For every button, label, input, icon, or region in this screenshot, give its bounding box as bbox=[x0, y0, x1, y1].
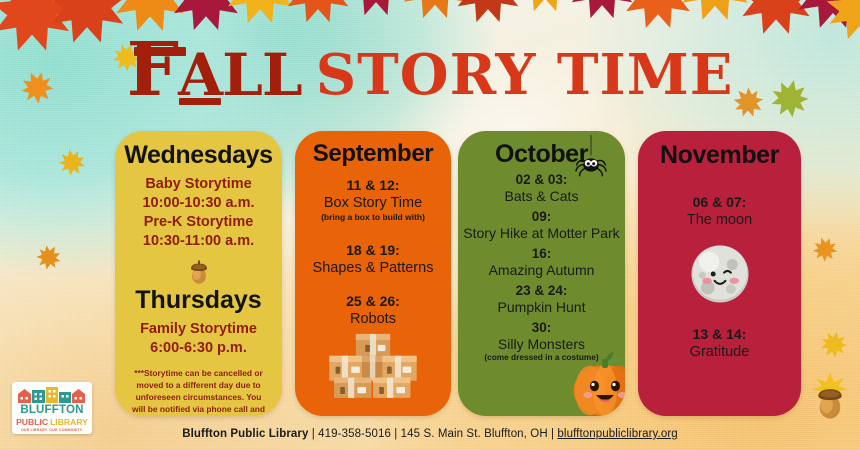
baby-storytime-time: 10:00-10:30 a.m. bbox=[115, 194, 282, 213]
acorn-icon bbox=[115, 256, 282, 286]
footer-sep-1: | bbox=[308, 428, 318, 440]
title-flourish-bar bbox=[134, 47, 186, 56]
card-wednesdays-heading: Wednesdays bbox=[115, 131, 282, 168]
september-date-1: 11 & 12: bbox=[295, 177, 451, 193]
card-november[interactable]: November 06 & 07: The moon bbox=[638, 131, 801, 416]
october-event-1: Bats & Cats bbox=[458, 188, 625, 204]
family-storytime-label: Family Storytime bbox=[115, 320, 282, 339]
storytime-disclaimer: ***Storytime can be cancelled or moved t… bbox=[115, 368, 282, 416]
card-wednesdays[interactable]: Wednesdays Baby Storytime 10:00-10:30 a.… bbox=[115, 131, 282, 416]
list-item: 06 & 07: The moon bbox=[638, 194, 801, 228]
jack-o-lantern-icon bbox=[567, 347, 625, 416]
september-date-2: 18 & 19: bbox=[295, 242, 451, 258]
card-wednesdays-body: Baby Storytime 10:00-10:30 a.m. Pre-K St… bbox=[115, 175, 282, 416]
list-item: 25 & 26: Robots bbox=[295, 293, 451, 327]
wednesdays-schedule: Baby Storytime 10:00-10:30 a.m. Pre-K St… bbox=[115, 175, 282, 252]
list-item: 09: Story Hike at Motter Park bbox=[458, 209, 625, 241]
footer-website-link[interactable]: blufftonpubliclibrary.org bbox=[557, 428, 677, 440]
november-event-2: Gratitude bbox=[638, 344, 801, 360]
list-item: 16: Amazing Autumn bbox=[458, 246, 625, 278]
card-october-body: 02 & 03: Bats & Cats 09: Story Hike at M… bbox=[458, 172, 625, 362]
september-event-2: Shapes & Patterns bbox=[295, 260, 451, 276]
title-story-time: STORY TIME bbox=[316, 47, 734, 103]
family-storytime-time: 6:00-6:30 p.m. bbox=[115, 339, 282, 358]
footer-address: 145 S. Main St. Bluffton, OH bbox=[401, 428, 548, 440]
card-september[interactable]: September 11 & 12: Box Story Time (bring… bbox=[295, 131, 451, 416]
title-flourish-underline bbox=[179, 98, 221, 105]
footer-phone: 419-358-5016 bbox=[318, 428, 391, 440]
library-buildings-icon bbox=[16, 385, 88, 404]
october-date-3: 16: bbox=[458, 246, 625, 261]
september-date-3: 25 & 26: bbox=[295, 293, 451, 309]
card-november-body: 06 & 07: The moon bbox=[638, 194, 801, 360]
logo-public-text: PUBLIC bbox=[16, 418, 48, 427]
baby-storytime-label: Baby Storytime bbox=[115, 175, 282, 194]
spider-icon bbox=[573, 135, 609, 188]
floating-leaf-icon bbox=[55, 145, 88, 178]
september-event-1: Box Story Time bbox=[295, 195, 451, 211]
footer-library-name: Bluffton Public Library bbox=[182, 428, 308, 440]
cardboard-boxes-icon bbox=[318, 323, 428, 406]
november-date-1: 06 & 07: bbox=[638, 194, 801, 210]
list-item: 13 & 14: Gratitude bbox=[638, 326, 801, 360]
logo-line-1: BLUFFTON bbox=[20, 405, 83, 417]
card-thursdays-heading: Thursdays bbox=[115, 288, 282, 313]
poster-title: FALL STORY TIME bbox=[0, 24, 860, 116]
october-event-3: Amazing Autumn bbox=[458, 262, 625, 278]
card-september-body: 11 & 12: Box Story Time (bring a box to … bbox=[295, 177, 451, 327]
card-november-heading: November bbox=[638, 131, 801, 168]
prek-storytime-time: 10:30-11:00 a.m. bbox=[115, 232, 282, 251]
october-date-2: 09: bbox=[458, 209, 625, 224]
footer-sep-3: | bbox=[548, 428, 558, 440]
list-item: 23 & 24: Pumpkin Hunt bbox=[458, 283, 625, 315]
october-date-5: 30: bbox=[458, 320, 625, 335]
moon-icon bbox=[638, 240, 801, 308]
title-fall: FALL bbox=[127, 33, 308, 107]
list-item: 11 & 12: Box Story Time (bring a box to … bbox=[295, 177, 451, 222]
october-event-2: Story Hike at Motter Park bbox=[458, 225, 625, 241]
thursdays-schedule: Family Storytime 6:00-6:30 p.m. bbox=[115, 320, 282, 358]
september-note-1: (bring a box to build with) bbox=[295, 212, 451, 222]
prek-storytime-label: Pre-K Storytime bbox=[115, 213, 282, 232]
footer-contact: Bluffton Public Library | 419-358-5016 |… bbox=[0, 428, 860, 440]
title-fall-f: F bbox=[127, 27, 179, 113]
card-october[interactable]: October 02 & 03: Bats & Cats 09: Story H… bbox=[458, 131, 625, 416]
october-date-4: 23 & 24: bbox=[458, 283, 625, 298]
footer-sep-2: | bbox=[391, 428, 401, 440]
card-september-heading: September bbox=[295, 131, 451, 166]
november-date-2: 13 & 14: bbox=[638, 326, 801, 342]
logo-library-text: LIBRARY bbox=[50, 418, 88, 427]
bluffton-public-library-logo[interactable]: BLUFFTON PUBLIC LIBRARY OUR LIBRARY. OUR… bbox=[12, 382, 92, 434]
logo-tagline: OUR LIBRARY. OUR COMMUNITY. bbox=[21, 428, 83, 432]
poster-canvas: FALL STORY TIME Wednesdays Baby Storytim… bbox=[0, 0, 860, 450]
list-item: 18 & 19: Shapes & Patterns bbox=[295, 242, 451, 276]
logo-line-2: PUBLIC LIBRARY bbox=[16, 418, 88, 427]
october-event-4: Pumpkin Hunt bbox=[458, 299, 625, 315]
november-event-1: The moon bbox=[638, 212, 801, 228]
acorn-icon bbox=[808, 368, 852, 424]
